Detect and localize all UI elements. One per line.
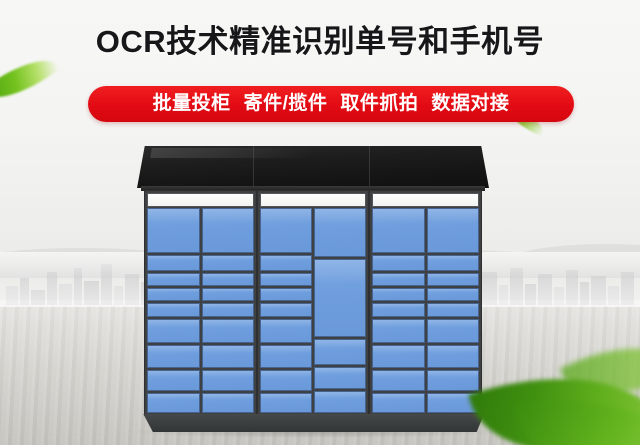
locker-door[interactable] (260, 319, 312, 342)
locker-door[interactable] (260, 345, 312, 368)
locker-door[interactable] (147, 303, 200, 318)
locker-door[interactable] (202, 255, 255, 272)
door-column (427, 208, 480, 413)
locker-door[interactable] (202, 273, 255, 286)
locker-door[interactable] (147, 208, 200, 253)
locker-door[interactable] (147, 273, 200, 286)
locker-door[interactable] (147, 345, 200, 368)
door-grid-right (372, 208, 479, 413)
door-column (260, 208, 312, 413)
door-column (372, 208, 425, 413)
locker-door[interactable] (260, 303, 312, 318)
feature-banner: 批量投柜 寄件/揽件 取件抓拍 数据对接 (88, 86, 574, 122)
locker-door[interactable] (147, 288, 200, 301)
locker-door[interactable] (372, 393, 425, 413)
locker-door[interactable] (202, 288, 255, 301)
locker-door[interactable] (427, 255, 480, 272)
door-grid-center (260, 208, 366, 413)
locker-bay-right (369, 190, 482, 416)
locker-door[interactable] (314, 391, 366, 413)
locker-door[interactable] (314, 367, 366, 389)
locker-door[interactable] (427, 319, 480, 342)
locker-door[interactable] (202, 345, 255, 368)
locker-door[interactable] (147, 370, 200, 390)
locker-door[interactable] (314, 339, 366, 364)
locker-door[interactable] (372, 370, 425, 390)
locker-door[interactable] (372, 208, 425, 253)
bay-header-strip-center (260, 193, 366, 207)
kiosk-panel[interactable] (314, 259, 366, 338)
locker-door[interactable] (260, 288, 312, 301)
locker-door[interactable] (314, 208, 366, 257)
locker-door[interactable] (427, 345, 480, 368)
locker-door[interactable] (147, 319, 200, 342)
locker-bay-left (144, 190, 257, 416)
page-title: OCR技术精准识别单号和手机号 (0, 22, 640, 62)
locker-door[interactable] (260, 273, 312, 286)
locker-door[interactable] (202, 208, 255, 253)
locker-door[interactable] (372, 255, 425, 272)
feature-item-send-collect: 寄件/揽件 (244, 86, 328, 122)
bay-header-strip-right (372, 193, 479, 207)
door-column-kiosk (314, 208, 366, 413)
locker-door[interactable] (372, 288, 425, 301)
canopy-seam-right (369, 146, 370, 188)
locker-door[interactable] (427, 273, 480, 286)
locker-door[interactable] (427, 370, 480, 390)
locker-door[interactable] (427, 303, 480, 318)
feature-item-pickup-capture: 取件抓拍 (340, 86, 418, 122)
locker-door[interactable] (372, 273, 425, 286)
locker-door[interactable] (372, 319, 425, 342)
locker-body (144, 190, 482, 416)
locker-door[interactable] (202, 303, 255, 318)
promo-banner: OCR技术精准识别单号和手机号 批量投柜 寄件/揽件 取件抓拍 数据对接 (0, 0, 640, 445)
locker-door[interactable] (147, 393, 200, 413)
cabinet-base-plinth (137, 414, 489, 432)
locker-door[interactable] (202, 370, 255, 390)
locker-door[interactable] (147, 255, 200, 272)
locker-door[interactable] (202, 319, 255, 342)
locker-door[interactable] (260, 208, 312, 253)
canopy-highlight (150, 148, 363, 158)
locker-canopy (137, 146, 489, 188)
locker-bay-center (257, 190, 369, 416)
locker-door[interactable] (427, 288, 480, 301)
locker-door[interactable] (427, 208, 480, 253)
canopy-seam-left (253, 146, 254, 188)
smart-locker-cabinet (137, 146, 489, 421)
locker-door[interactable] (260, 393, 312, 413)
bay-header-strip-left (147, 193, 254, 207)
locker-door[interactable] (372, 303, 425, 318)
door-grid-left (147, 208, 254, 413)
locker-door[interactable] (202, 393, 255, 413)
locker-door[interactable] (372, 345, 425, 368)
locker-door[interactable] (260, 255, 312, 272)
locker-door[interactable] (260, 370, 312, 390)
door-column (202, 208, 255, 413)
door-column (147, 208, 200, 413)
feature-item-batch-deposit: 批量投柜 (153, 86, 231, 122)
feature-item-data-integration: 数据对接 (431, 86, 509, 122)
